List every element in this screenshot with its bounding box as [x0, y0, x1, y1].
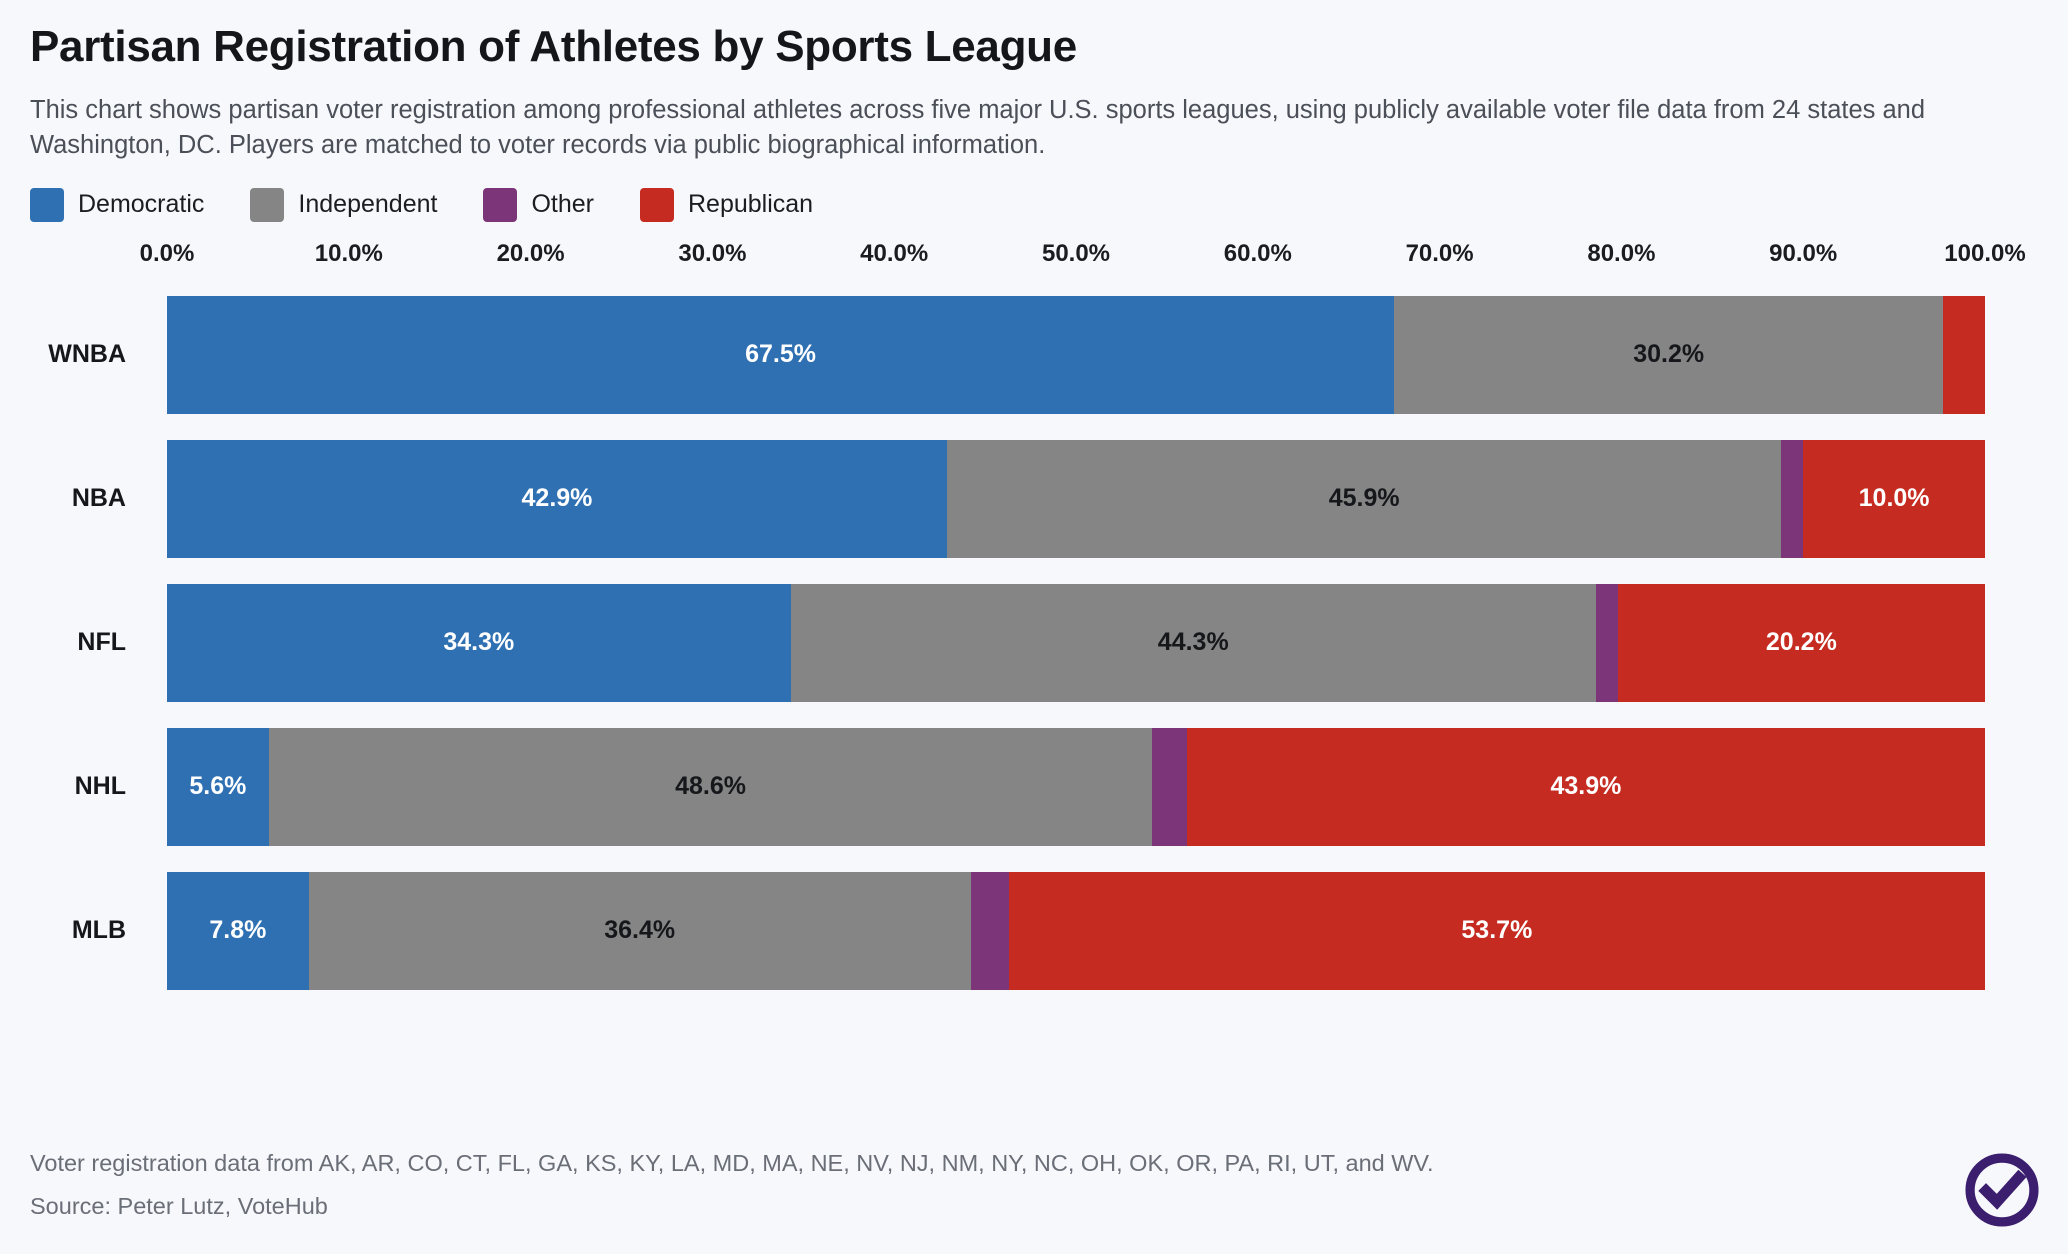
- bar-segment-republican[interactable]: 53.7%: [1009, 872, 1985, 990]
- legend-item-independent[interactable]: Independent: [250, 188, 437, 222]
- bar-segment-other[interactable]: [971, 872, 1009, 990]
- bar-row-nfl: NFL34.3%44.3%20.2%: [0, 584, 2068, 702]
- bar-segment-independent[interactable]: 30.2%: [1394, 296, 1943, 414]
- chart-subtitle: This chart shows partisan voter registra…: [30, 93, 2020, 163]
- bar-segment-republican[interactable]: 10.0%: [1803, 440, 1985, 558]
- bar-segment-democratic[interactable]: 34.3%: [167, 584, 791, 702]
- bar-segment-democratic[interactable]: 67.5%: [167, 296, 1394, 414]
- bar-segment-value-label: 5.6%: [189, 772, 246, 801]
- legend-swatch-icon: [30, 188, 64, 222]
- legend-item-other[interactable]: Other: [483, 188, 594, 222]
- x-axis-tick-label: 80.0%: [1587, 240, 1655, 268]
- legend-swatch-icon: [640, 188, 674, 222]
- bar-segment-value-label: 43.9%: [1550, 772, 1621, 801]
- stacked-bar: 42.9%45.9%10.0%: [167, 440, 1985, 558]
- bar-segment-other[interactable]: [1781, 440, 1803, 558]
- bar-segment-democratic[interactable]: 5.6%: [167, 728, 269, 846]
- category-label: NHL: [0, 728, 149, 846]
- footer-source: Source: Peter Lutz, VoteHub: [30, 1188, 2038, 1224]
- x-axis-tick-label: 100.0%: [1944, 240, 2025, 268]
- stacked-bar: 7.8%36.4%53.7%: [167, 872, 1985, 990]
- legend-item-label: Independent: [298, 190, 437, 219]
- bar-segment-independent[interactable]: 44.3%: [791, 584, 1596, 702]
- x-axis-tick-label: 10.0%: [315, 240, 383, 268]
- bar-segment-value-label: 34.3%: [443, 628, 514, 657]
- bar-segment-value-label: 7.8%: [209, 916, 266, 945]
- bar-segment-democratic[interactable]: 7.8%: [167, 872, 309, 990]
- legend-swatch-icon: [250, 188, 284, 222]
- legend-item-label: Republican: [688, 190, 813, 219]
- x-axis-tick-label: 60.0%: [1224, 240, 1292, 268]
- stacked-bar: 5.6%48.6%43.9%: [167, 728, 1985, 846]
- page-title: Partisan Registration of Athletes by Spo…: [30, 22, 2020, 71]
- x-axis: 0.0%10.0%20.0%30.0%40.0%50.0%60.0%70.0%8…: [0, 240, 2068, 282]
- stacked-bar: 34.3%44.3%20.2%: [167, 584, 1985, 702]
- bar-segment-republican[interactable]: 20.2%: [1618, 584, 1985, 702]
- x-axis-tick-label: 70.0%: [1406, 240, 1474, 268]
- bar-segment-democratic[interactable]: 42.9%: [167, 440, 947, 558]
- legend-item-democratic[interactable]: Democratic: [30, 188, 204, 222]
- category-label: NFL: [0, 584, 149, 702]
- bar-rows: WNBA67.5%30.2%NBA42.9%45.9%10.0%NFL34.3%…: [0, 296, 2068, 990]
- legend-item-label: Democratic: [78, 190, 204, 219]
- bar-row-mlb: MLB7.8%36.4%53.7%: [0, 872, 2068, 990]
- bar-segment-value-label: 44.3%: [1158, 628, 1229, 657]
- bar-segment-republican[interactable]: [1943, 296, 1985, 414]
- bar-segment-independent[interactable]: 48.6%: [269, 728, 1153, 846]
- bar-segment-value-label: 10.0%: [1859, 484, 1930, 513]
- chart-footer: Voter registration data from AK, AR, CO,…: [30, 1145, 2038, 1224]
- x-axis-tick-label: 30.0%: [678, 240, 746, 268]
- x-axis-tick-label: 40.0%: [860, 240, 928, 268]
- bar-segment-republican[interactable]: 43.9%: [1187, 728, 1985, 846]
- chart-header: Partisan Registration of Athletes by Spo…: [0, 0, 2068, 164]
- legend-item-label: Other: [531, 190, 594, 219]
- legend-swatch-icon: [483, 188, 517, 222]
- bar-segment-other[interactable]: [1152, 728, 1187, 846]
- bar-segment-value-label: 36.4%: [604, 916, 675, 945]
- bar-segment-value-label: 48.6%: [675, 772, 746, 801]
- bar-segment-value-label: 45.9%: [1329, 484, 1400, 513]
- x-axis-tick-label: 20.0%: [497, 240, 565, 268]
- bar-segment-value-label: 67.5%: [745, 340, 816, 369]
- chart-legend: DemocraticIndependentOtherRepublican: [30, 188, 2068, 222]
- category-label: WNBA: [0, 296, 149, 414]
- bar-segment-value-label: 42.9%: [522, 484, 593, 513]
- x-axis-tick-label: 50.0%: [1042, 240, 1110, 268]
- legend-item-republican[interactable]: Republican: [640, 188, 813, 222]
- check-circle-icon: [1960, 1148, 2044, 1232]
- x-axis-tick-label: 0.0%: [140, 240, 195, 268]
- bar-segment-value-label: 53.7%: [1461, 916, 1532, 945]
- chart-page: Partisan Registration of Athletes by Spo…: [0, 0, 2068, 1254]
- bar-segment-value-label: 30.2%: [1633, 340, 1704, 369]
- bar-row-nhl: NHL5.6%48.6%43.9%: [0, 728, 2068, 846]
- bar-row-nba: NBA42.9%45.9%10.0%: [0, 440, 2068, 558]
- x-axis-tick-label: 90.0%: [1769, 240, 1837, 268]
- chart-plot-area: 0.0%10.0%20.0%30.0%40.0%50.0%60.0%70.0%8…: [0, 240, 2068, 1040]
- category-label: NBA: [0, 440, 149, 558]
- stacked-bar: 67.5%30.2%: [167, 296, 1985, 414]
- bar-row-wnba: WNBA67.5%30.2%: [0, 296, 2068, 414]
- bar-segment-independent[interactable]: 45.9%: [947, 440, 1781, 558]
- bar-segment-other[interactable]: [1596, 584, 1618, 702]
- bar-segment-value-label: 20.2%: [1766, 628, 1837, 657]
- category-label: MLB: [0, 872, 149, 990]
- bar-segment-independent[interactable]: 36.4%: [309, 872, 971, 990]
- footer-note: Voter registration data from AK, AR, CO,…: [30, 1145, 2038, 1181]
